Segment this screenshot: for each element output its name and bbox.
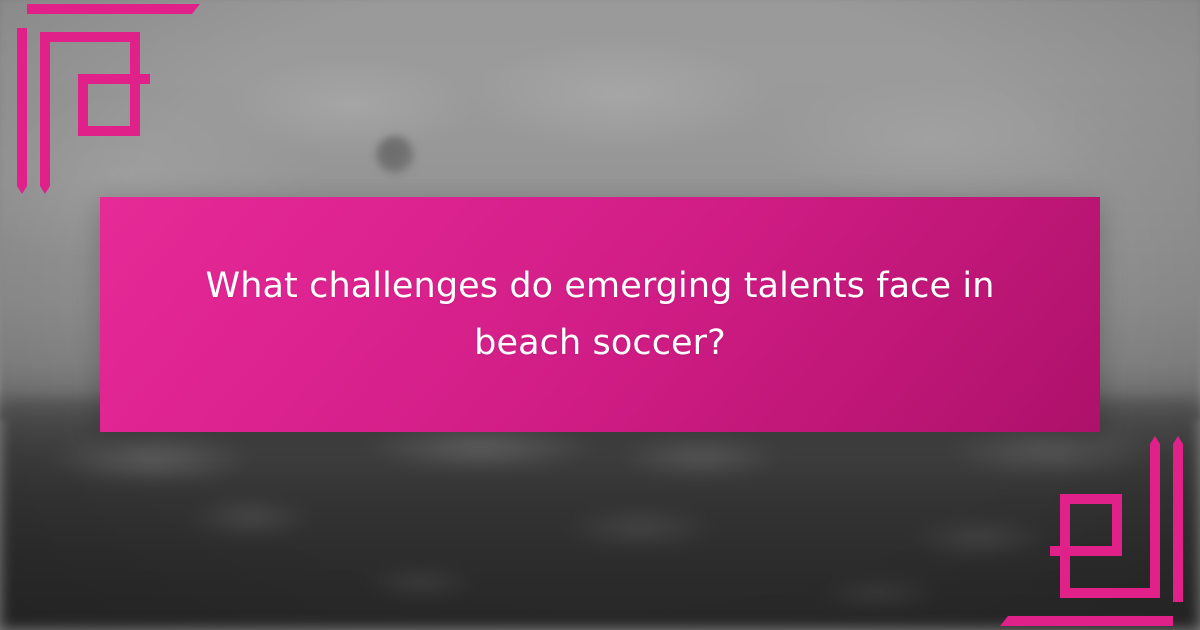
headline-panel: What challenges do emerging talents face…: [100, 197, 1100, 432]
poster-canvas: What challenges do emerging talents face…: [0, 0, 1200, 630]
page-title: What challenges do emerging talents face…: [205, 258, 995, 371]
